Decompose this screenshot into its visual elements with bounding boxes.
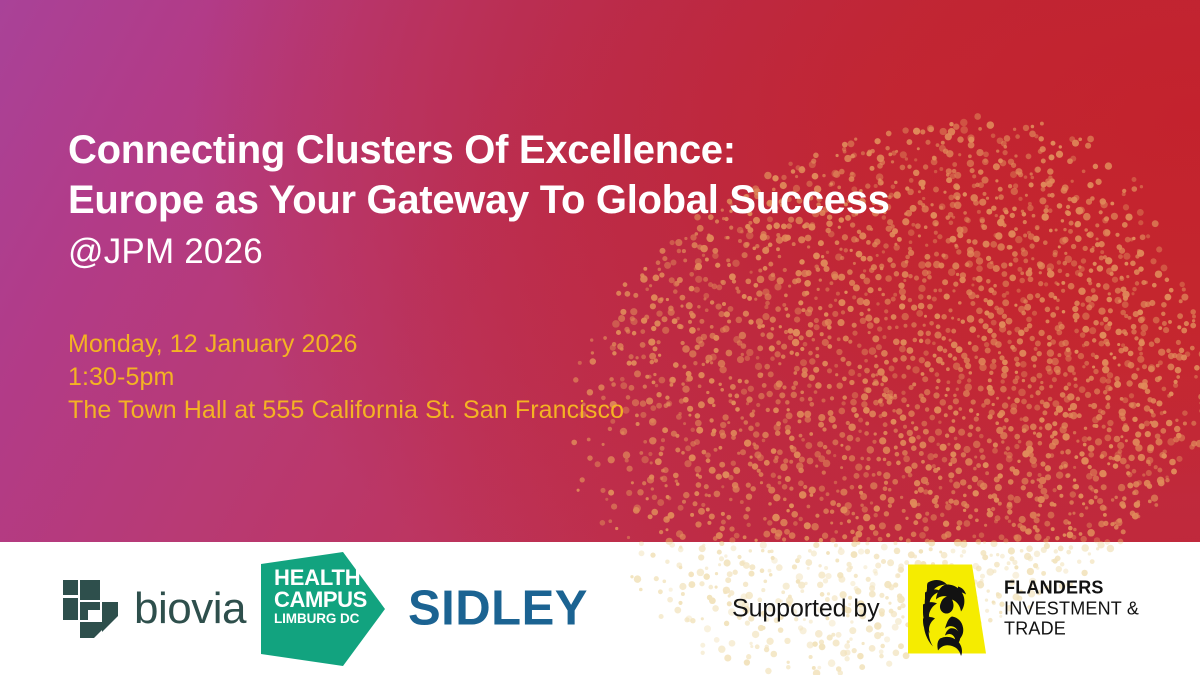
logo-health-campus-limburg[interactable]: HEALTH CAMPUS LIMBURG DC xyxy=(261,550,385,668)
logo-biovia[interactable]: biovia xyxy=(62,578,246,640)
flanders-text-block: FLANDERS INVESTMENT & TRADE xyxy=(1004,577,1139,640)
event-venue: The Town Hall at 555 California St. San … xyxy=(68,394,624,427)
health-campus-line-2: CAMPUS xyxy=(274,589,367,611)
event-time: 1:30-5pm xyxy=(68,361,624,394)
biovia-wordmark: biovia xyxy=(134,587,246,631)
headline-block: Connecting Clusters Of Excellence: Europ… xyxy=(68,126,1098,275)
health-campus-line-1: HEALTH xyxy=(274,567,367,589)
logo-sidley[interactable]: SIDLEY xyxy=(408,584,588,633)
health-campus-text: HEALTH CAMPUS LIMBURG DC xyxy=(274,567,367,626)
supported-by-label: Supported by xyxy=(732,596,880,621)
sponsor-logo-bar: biovia HEALTH CAMPUS LIMBURG DC SIDLEY S… xyxy=(0,542,1200,675)
title-line-1: Connecting Clusters Of Excellence: xyxy=(68,126,1098,176)
event-date: Monday, 12 January 2026 xyxy=(68,328,624,361)
subtitle: @JPM 2026 xyxy=(68,229,1098,275)
biovia-mark-icon xyxy=(62,578,120,640)
flanders-lion-badge-icon xyxy=(906,562,988,655)
flanders-line-3: TRADE xyxy=(1004,619,1139,640)
health-campus-line-3: LIMBURG DC xyxy=(274,612,367,626)
flanders-line-2: INVESTMENT & xyxy=(1004,598,1139,619)
flanders-line-1: FLANDERS xyxy=(1004,577,1139,598)
event-banner: Connecting Clusters Of Excellence: Europ… xyxy=(0,0,1200,675)
logo-flanders-investment-trade[interactable]: FLANDERS INVESTMENT & TRADE xyxy=(906,562,1139,655)
event-details-block: Monday, 12 January 2026 1:30-5pm The Tow… xyxy=(68,328,624,427)
title-line-2: Europe as Your Gateway To Global Success xyxy=(68,176,1098,226)
